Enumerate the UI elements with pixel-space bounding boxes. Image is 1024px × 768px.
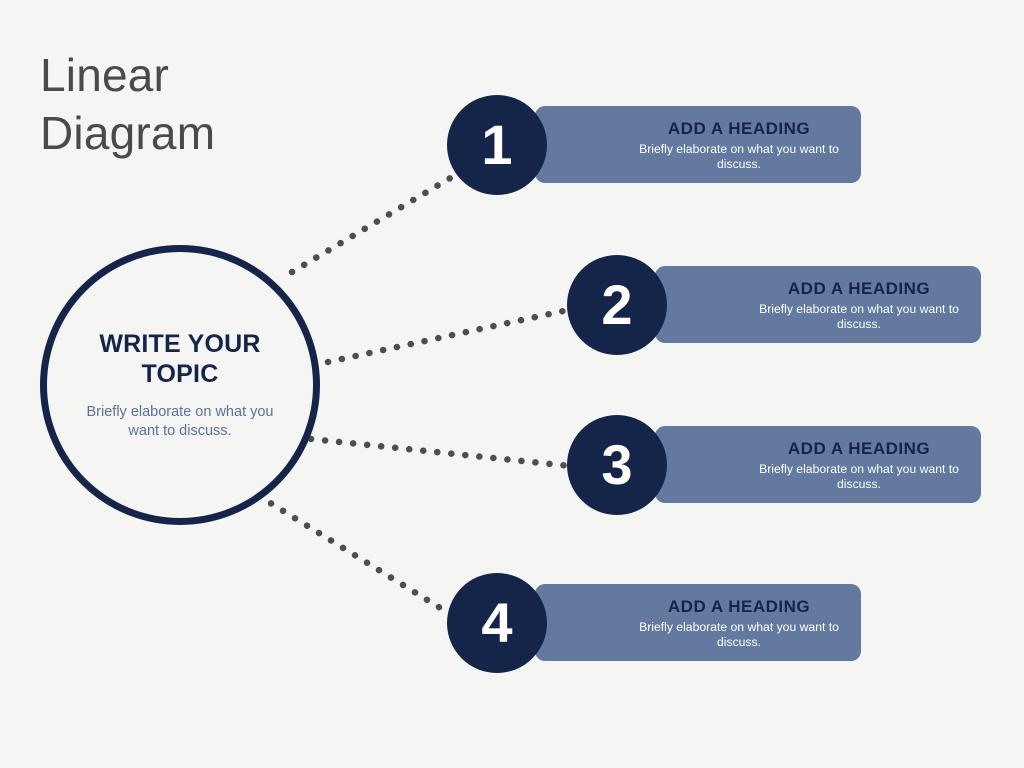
- step-bar-1[interactable]: ADD A HEADING Briefly elaborate on what …: [535, 106, 861, 183]
- page-title: Linear Diagram: [40, 46, 380, 162]
- step-number-badge-1[interactable]: 1: [447, 95, 547, 195]
- central-topic-title: WRITE YOUR TOPIC: [73, 329, 288, 389]
- step-number-badge-4[interactable]: 4: [447, 573, 547, 673]
- step-description-4: Briefly elaborate on what you want to di…: [631, 620, 847, 650]
- step-heading-2: ADD A HEADING: [788, 278, 930, 299]
- diagram-canvas: Linear Diagram WRITE YOUR TOPIC Briefly …: [0, 0, 1024, 768]
- step-number-badge-2[interactable]: 2: [567, 255, 667, 355]
- central-topic-description: Briefly elaborate on what you want to di…: [80, 403, 280, 441]
- step-description-1: Briefly elaborate on what you want to di…: [631, 142, 847, 172]
- step-bar-3[interactable]: ADD A HEADING Briefly elaborate on what …: [655, 426, 981, 503]
- connector-line-3: [311, 439, 570, 466]
- connector-line-4: [259, 496, 450, 614]
- step-heading-3: ADD A HEADING: [788, 438, 930, 459]
- step-description-2: Briefly elaborate on what you want to di…: [751, 302, 967, 332]
- step-heading-1: ADD A HEADING: [668, 118, 810, 139]
- step-item-2[interactable]: ADD A HEADING Briefly elaborate on what …: [567, 255, 981, 355]
- connector-line-2: [328, 310, 568, 362]
- step-item-4[interactable]: ADD A HEADING Briefly elaborate on what …: [447, 573, 861, 673]
- step-item-1[interactable]: ADD A HEADING Briefly elaborate on what …: [447, 95, 861, 195]
- step-bar-4[interactable]: ADD A HEADING Briefly elaborate on what …: [535, 584, 861, 661]
- step-description-3: Briefly elaborate on what you want to di…: [751, 462, 967, 492]
- central-topic-circle[interactable]: WRITE YOUR TOPIC Briefly elaborate on wh…: [40, 245, 320, 525]
- step-number-badge-3[interactable]: 3: [567, 415, 667, 515]
- step-bar-2[interactable]: ADD A HEADING Briefly elaborate on what …: [655, 266, 981, 343]
- connector-line-1: [292, 177, 452, 272]
- step-item-3[interactable]: ADD A HEADING Briefly elaborate on what …: [567, 415, 981, 515]
- step-heading-4: ADD A HEADING: [668, 596, 810, 617]
